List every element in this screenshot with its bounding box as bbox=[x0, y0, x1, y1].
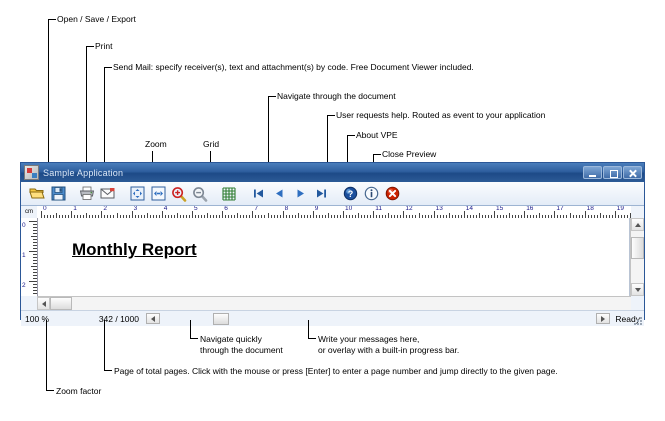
vruler-tick-major bbox=[29, 251, 37, 252]
vruler-tick-minor bbox=[33, 233, 37, 234]
first-page-button[interactable] bbox=[248, 184, 268, 204]
vertical-scrollbar[interactable] bbox=[630, 218, 644, 296]
ruler-number: 7 bbox=[254, 206, 258, 212]
ruler-tick-major bbox=[283, 211, 284, 218]
ruler-number: 17 bbox=[556, 206, 563, 212]
leader-stub-messages bbox=[308, 338, 316, 339]
fit-width-button[interactable] bbox=[148, 184, 168, 204]
ruler-number: 13 bbox=[436, 206, 443, 212]
ruler-tick-major bbox=[615, 211, 616, 218]
annotation-about-vpe: About VPE bbox=[356, 130, 398, 140]
leader-stub-open bbox=[48, 19, 56, 20]
maximize-button[interactable] bbox=[603, 166, 622, 179]
leader-stub-pagetotal bbox=[104, 370, 112, 371]
ruler-number: 15 bbox=[496, 206, 503, 212]
ruler-number: 8 bbox=[285, 206, 289, 212]
vruler-tick-minor bbox=[33, 254, 37, 255]
ruler-number: 18 bbox=[587, 206, 594, 212]
ruler-tick-major bbox=[41, 211, 42, 218]
annotation-navigate-quickly-1: Navigate quickly bbox=[200, 334, 262, 344]
leader-line-zoomfactor bbox=[46, 320, 47, 390]
toolbar: ? bbox=[21, 182, 644, 206]
annotation-messages-1: Write your messages here, bbox=[318, 334, 419, 344]
ruler-tick-major bbox=[343, 211, 344, 218]
ruler-number: 9 bbox=[315, 206, 319, 212]
leader-stub-zoomfactor bbox=[46, 390, 54, 391]
ruler-tick-major bbox=[373, 211, 374, 218]
ruler-tick-major bbox=[101, 211, 102, 218]
ruler-number: 19 bbox=[617, 206, 624, 212]
triangle-right-icon bbox=[601, 316, 605, 322]
window-title: Sample Application bbox=[43, 168, 583, 178]
ruler-number: 2 bbox=[103, 206, 107, 212]
ruler-number: 1 bbox=[73, 206, 77, 212]
ruler-number: 6 bbox=[224, 206, 228, 212]
vruler-tick-major bbox=[29, 221, 37, 222]
ruler-tick-major bbox=[162, 211, 163, 218]
leader-line-messages bbox=[308, 320, 309, 338]
ruler-number: 16 bbox=[526, 206, 533, 212]
vruler-tick-minor bbox=[33, 242, 37, 243]
ruler-tick-major bbox=[313, 211, 314, 218]
ruler-tick-major bbox=[132, 211, 133, 218]
triangle-left-icon bbox=[151, 316, 155, 322]
vruler-tick-minor bbox=[33, 260, 37, 261]
ruler-tick-major bbox=[494, 211, 495, 218]
vruler-number: 1 bbox=[22, 252, 26, 259]
minimize-button[interactable] bbox=[583, 166, 602, 179]
leader-stub-closeprev bbox=[373, 154, 381, 155]
annotation-navigate-quickly-2: through the document bbox=[200, 345, 283, 355]
ruler-tick-major bbox=[403, 211, 404, 218]
ruler-number: 14 bbox=[466, 206, 473, 212]
triangle-left-icon bbox=[42, 301, 46, 307]
annotation-user-help: User requests help. Routed as event to y… bbox=[336, 110, 545, 120]
zoom-out-button[interactable] bbox=[190, 184, 210, 204]
vertical-ruler: 012 bbox=[21, 218, 38, 296]
ruler-tick-major bbox=[192, 211, 193, 218]
status-progress-slider[interactable] bbox=[160, 312, 593, 326]
ruler-number: 5 bbox=[194, 206, 198, 212]
open-button[interactable] bbox=[27, 184, 47, 204]
annotation-send-mail: Send Mail: specify receiver(s), text and… bbox=[113, 62, 474, 72]
svg-text:?: ? bbox=[347, 189, 353, 199]
vruler-tick-minor bbox=[31, 236, 37, 237]
vruler-tick-major bbox=[29, 281, 37, 282]
vruler-tick-minor bbox=[33, 290, 37, 291]
resize-grip[interactable] bbox=[632, 315, 642, 325]
progress-slider-thumb[interactable] bbox=[213, 313, 229, 325]
leader-stub-print bbox=[86, 46, 94, 47]
save-button[interactable] bbox=[48, 184, 68, 204]
vruler-tick-minor bbox=[33, 287, 37, 288]
help-button[interactable]: ? bbox=[340, 184, 360, 204]
fit-page-button[interactable] bbox=[127, 184, 147, 204]
ruler-number: 12 bbox=[405, 206, 412, 212]
print-button[interactable] bbox=[77, 184, 97, 204]
vruler-tick-minor bbox=[33, 278, 37, 279]
close-preview-button[interactable] bbox=[382, 184, 402, 204]
ruler-corner-right bbox=[631, 206, 644, 218]
ruler-tick-major bbox=[222, 211, 223, 218]
last-page-button[interactable] bbox=[311, 184, 331, 204]
vruler-tick-minor bbox=[33, 263, 37, 264]
application-icon bbox=[24, 165, 39, 180]
ruler-tick-major bbox=[71, 211, 72, 218]
page-next-stepper[interactable] bbox=[596, 313, 610, 324]
ruler-number: 3 bbox=[134, 206, 138, 212]
grid-button[interactable] bbox=[219, 184, 239, 204]
horizontal-scroll-thumb[interactable] bbox=[50, 297, 72, 310]
vruler-tick-minor bbox=[33, 293, 37, 294]
vertical-scroll-thumb[interactable] bbox=[631, 237, 644, 259]
leader-stub-nav bbox=[268, 96, 276, 97]
prev-page-button[interactable] bbox=[269, 184, 289, 204]
annotation-close-preview: Close Preview bbox=[382, 149, 436, 159]
hscroll-corner bbox=[21, 296, 37, 310]
vruler-tick-minor bbox=[33, 284, 37, 285]
status-page-number[interactable]: 342 / 1000 bbox=[69, 312, 143, 326]
horizontal-scrollbar-row bbox=[21, 296, 644, 310]
vruler-tick-minor bbox=[33, 230, 37, 231]
scroll-left-button[interactable] bbox=[37, 297, 50, 310]
scroll-down-button[interactable] bbox=[631, 283, 644, 296]
leader-line-navquick bbox=[190, 320, 191, 338]
annotation-zoom-factor: Zoom factor bbox=[56, 386, 101, 396]
vruler-number: 0 bbox=[22, 222, 26, 229]
document-body: 012 Monthly Report bbox=[21, 218, 644, 296]
ruler-number: 11 bbox=[375, 206, 382, 212]
leader-line-pagetotal bbox=[104, 320, 105, 370]
status-bar: 100 % 342 / 1000 Ready bbox=[21, 310, 644, 326]
ruler-tick-major bbox=[464, 211, 465, 218]
horizontal-ruler-row: cm 012345678910111213141516171819 bbox=[21, 206, 644, 218]
leader-stub-mail bbox=[104, 67, 112, 68]
ruler-tick-major bbox=[554, 211, 555, 218]
annotation-grid: Grid bbox=[203, 139, 219, 149]
annotation-page-of-total: Page of total pages. Click with the mous… bbox=[114, 366, 558, 376]
hscroll-corner-right bbox=[631, 296, 644, 310]
triangle-down-icon bbox=[635, 288, 641, 292]
vruler-tick-minor bbox=[33, 239, 37, 240]
page-canvas[interactable]: Monthly Report bbox=[38, 218, 630, 296]
ruler-number: 0 bbox=[43, 206, 47, 212]
vruler-tick-minor bbox=[33, 245, 37, 246]
vruler-tick-minor bbox=[33, 275, 37, 276]
ruler-number: 4 bbox=[164, 206, 168, 212]
vruler-tick-minor bbox=[33, 272, 37, 273]
annotation-open-save-export: Open / Save / Export bbox=[57, 14, 136, 24]
page-prev-stepper[interactable] bbox=[146, 313, 160, 324]
leader-stub-about bbox=[347, 135, 355, 136]
annotation-messages-2: or overlay with a built-in progress bar. bbox=[318, 345, 459, 355]
ruler-number: 10 bbox=[345, 206, 352, 212]
window-controls bbox=[583, 166, 642, 179]
title-bar[interactable]: Sample Application bbox=[21, 163, 644, 182]
annotation-navigate-document: Navigate through the document bbox=[277, 91, 396, 101]
ruler-unit-label: cm bbox=[21, 206, 37, 218]
about-button[interactable] bbox=[361, 184, 381, 204]
horizontal-scrollbar[interactable] bbox=[37, 296, 631, 310]
send-mail-button[interactable] bbox=[98, 184, 118, 204]
scroll-up-button[interactable] bbox=[631, 218, 644, 231]
application-window: Sample Application bbox=[20, 162, 645, 320]
vruler-tick-minor bbox=[33, 248, 37, 249]
close-button[interactable] bbox=[623, 166, 642, 179]
next-page-button[interactable] bbox=[290, 184, 310, 204]
vruler-tick-minor bbox=[33, 224, 37, 225]
vruler-tick-minor bbox=[33, 269, 37, 270]
vruler-tick-minor bbox=[33, 257, 37, 258]
ruler-tick-major bbox=[252, 211, 253, 218]
zoom-in-button[interactable] bbox=[169, 184, 189, 204]
document-title: Monthly Report bbox=[72, 240, 197, 260]
ruler-tick-major bbox=[434, 211, 435, 218]
vertical-scroll-track[interactable] bbox=[631, 231, 644, 283]
annotation-print: Print bbox=[95, 41, 112, 51]
leader-stub-help bbox=[327, 115, 335, 116]
triangle-up-icon bbox=[635, 223, 641, 227]
vruler-number: 2 bbox=[22, 282, 26, 289]
leader-stub-navquick bbox=[190, 338, 198, 339]
ruler-tick-major bbox=[524, 211, 525, 218]
ruler-tick-major bbox=[585, 211, 586, 218]
status-zoom-factor[interactable]: 100 % bbox=[21, 312, 69, 326]
vruler-tick-minor bbox=[33, 227, 37, 228]
annotation-zoom: Zoom bbox=[145, 139, 167, 149]
vruler-tick-minor bbox=[31, 266, 37, 267]
